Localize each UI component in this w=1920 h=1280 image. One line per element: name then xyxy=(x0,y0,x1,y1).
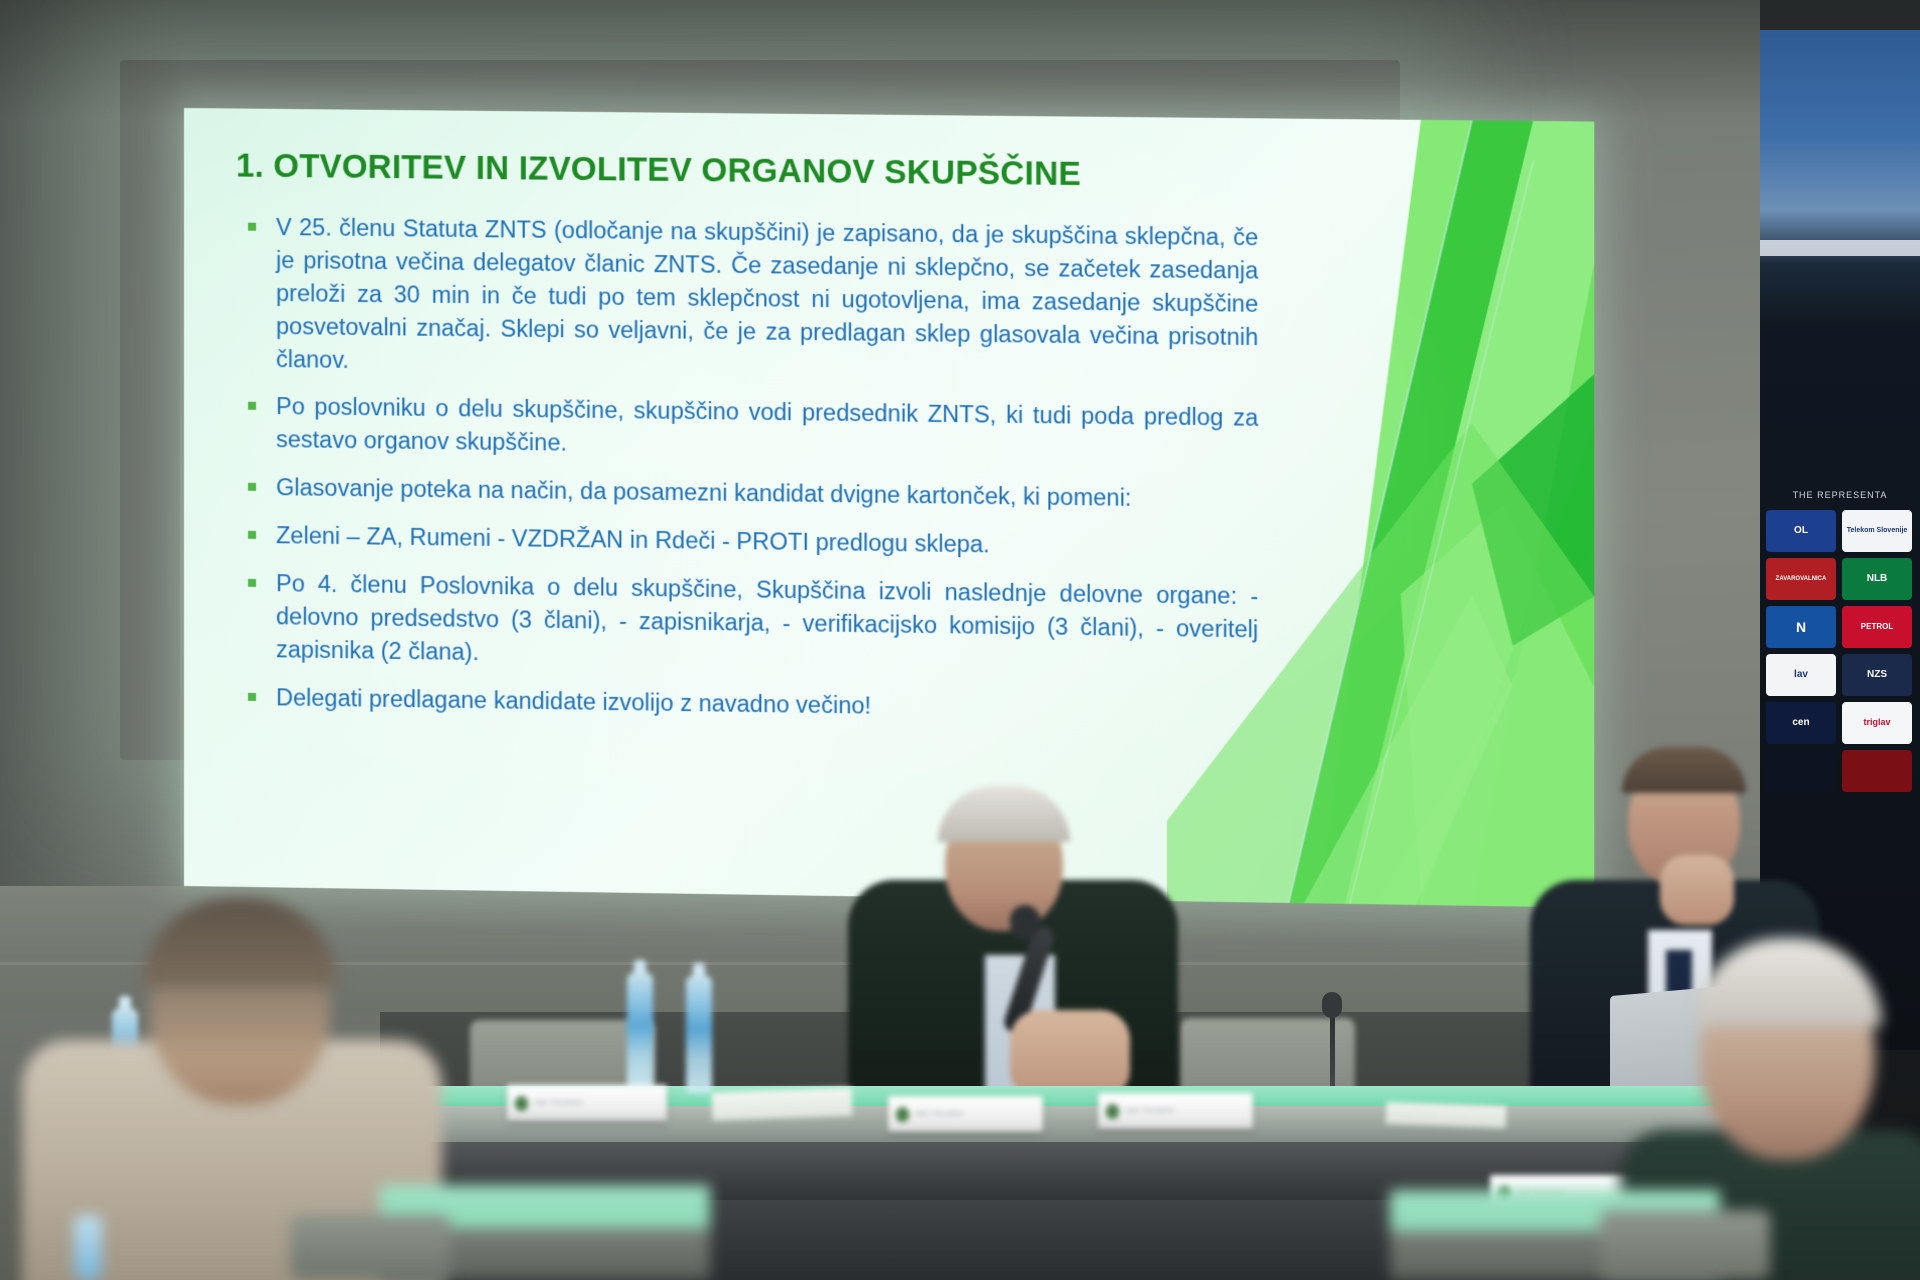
sponsor-logo: Telekom Slovenije xyxy=(1842,510,1912,552)
projected-slide: 1. OTVORITEV IN IZVOLITEV ORGANOV SKUPŠČ… xyxy=(184,108,1594,908)
sponsor-logo-label: NZS xyxy=(1867,670,1887,681)
slide-bullet-text: Po poslovniku o delu skupščine, skupščin… xyxy=(276,394,1258,456)
sponsor-logo-grid: OL Telekom Slovenije ZAVAROVALNICA NLB N… xyxy=(1760,510,1920,792)
sponsor-logo-label: lav xyxy=(1794,670,1808,681)
slide-bullet-1: V 25. členu Statuta ZNTS (odločanje na s… xyxy=(236,211,1258,387)
sponsor-logo-label: Telekom Slovenije xyxy=(1847,527,1908,534)
slide-bullet-list: V 25. členu Statuta ZNTS (odločanje na s… xyxy=(236,211,1258,728)
bullet-marker-icon xyxy=(248,223,256,231)
slide-bullet-text: V 25. členu Statuta ZNTS (odločanje na s… xyxy=(276,214,1258,373)
sponsor-logo: ZAVAROVALNICA xyxy=(1766,558,1836,600)
slide-bullet-4: Zeleni – ZA, Rumeni - VZDRŽAN in Rdeči -… xyxy=(236,519,1258,565)
sponsor-logo-label: cen xyxy=(1792,718,1809,729)
sponsor-logo-label: NLB xyxy=(1867,574,1888,585)
slide-bullet-3: Glasovanje poteka na način, da posamezni… xyxy=(236,471,1258,517)
slide-bullet-text: Glasovanje poteka na način, da posamezni… xyxy=(276,474,1132,511)
slide-bullet-2: Po poslovniku o delu skupščine, skupščin… xyxy=(236,390,1258,468)
wall-band-seam xyxy=(0,962,1760,965)
sponsor-logo-label: OL xyxy=(1794,526,1808,537)
sponsor-logo: NLB xyxy=(1842,558,1912,600)
slide-bullet-5: Po 4. členu Poslovnika o delu skupščine,… xyxy=(236,567,1258,680)
sponsor-logo-label: N xyxy=(1796,620,1806,635)
sponsor-logo xyxy=(1842,750,1912,792)
bullet-marker-icon xyxy=(248,693,256,701)
sponsor-logo-label: ZAVAROVALNICA xyxy=(1776,576,1827,582)
slide-bullet-text: Zeleni – ZA, Rumeni - VZDRŽAN in Rdeči -… xyxy=(276,522,990,557)
sponsor-logo: PETROL xyxy=(1842,606,1912,648)
sponsor-logo: cen xyxy=(1766,702,1836,744)
banner-photo xyxy=(1760,30,1920,330)
sponsor-logo: OL xyxy=(1766,510,1836,552)
sponsor-logo: lav xyxy=(1766,654,1836,696)
conference-room-photo: 1. OTVORITEV IN IZVOLITEV ORGANOV SKUPŠČ… xyxy=(0,0,1920,1280)
bullet-marker-icon xyxy=(248,531,256,539)
slide-bullet-6: Delegati predlagane kandidate izvolijo z… xyxy=(236,680,1258,727)
bullet-marker-icon xyxy=(248,483,256,491)
banner-caption: THE REPRESENTA xyxy=(1760,490,1920,500)
sponsor-logo-label: PETROL xyxy=(1861,623,1893,631)
slide-title: 1. OTVORITEV IN IZVOLITEV ORGANOV SKUPŠČ… xyxy=(236,147,1258,195)
sponsor-logo: triglav xyxy=(1842,702,1912,744)
bullet-marker-icon xyxy=(248,579,256,587)
sponsor-banner: THE REPRESENTA OL Telekom Slovenije ZAVA… xyxy=(1760,30,1920,1050)
sponsor-logo xyxy=(1766,750,1836,792)
sponsor-logo-label: triglav xyxy=(1863,718,1890,727)
slide-bullet-text: Po 4. členu Poslovnika o delu skupščine,… xyxy=(276,570,1258,665)
bullet-marker-icon xyxy=(248,402,256,410)
sponsor-logo: N xyxy=(1766,606,1836,648)
sponsor-logo: NZS xyxy=(1842,654,1912,696)
slide-bullet-text: Delegati predlagane kandidate izvolijo z… xyxy=(276,684,871,718)
